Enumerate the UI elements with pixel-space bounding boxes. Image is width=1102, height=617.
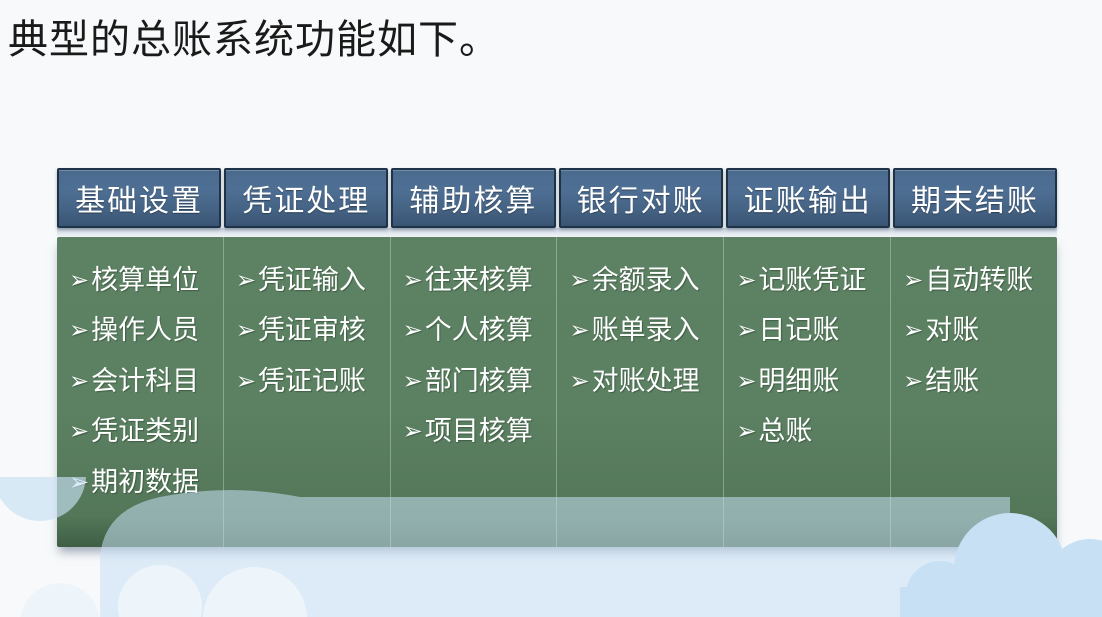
arrow-bullet-icon: ➢: [403, 309, 423, 354]
table-body-column: ➢凭证输入➢凭证审核➢凭证记账: [224, 237, 391, 547]
list-item[interactable]: ➢凭证类别: [69, 406, 213, 456]
arrow-bullet-icon: ➢: [569, 360, 589, 405]
arrow-bullet-icon: ➢: [69, 360, 89, 405]
list-item[interactable]: ➢凭证记账: [236, 356, 380, 406]
header-body-divider: [57, 228, 1057, 237]
list-item[interactable]: ➢项目核算: [403, 406, 547, 456]
arrow-bullet-icon: ➢: [69, 461, 89, 506]
list-item-label: 账单录入: [592, 305, 700, 355]
list-item-label: 期初数据: [91, 457, 199, 507]
list-item-label: 总账: [758, 406, 812, 456]
table-header-cell[interactable]: 辅助核算: [391, 168, 555, 228]
arrow-bullet-icon: ➢: [236, 259, 256, 304]
arrow-bullet-icon: ➢: [569, 309, 589, 354]
list-item-label: 往来核算: [425, 255, 533, 305]
list-item[interactable]: ➢余额录入: [569, 255, 713, 305]
table-body-column: ➢记账凭证➢日记账➢明细账➢总账: [724, 237, 891, 547]
list-item-label: 核算单位: [91, 255, 199, 305]
arrow-bullet-icon: ➢: [69, 259, 89, 304]
list-item[interactable]: ➢总账: [736, 406, 880, 456]
arrow-bullet-icon: ➢: [69, 410, 89, 455]
table-body-column: ➢核算单位➢操作人员➢会计科目➢凭证类别➢期初数据: [57, 237, 224, 547]
list-item[interactable]: ➢操作人员: [69, 305, 213, 355]
table-body-row: ➢核算单位➢操作人员➢会计科目➢凭证类别➢期初数据➢凭证输入➢凭证审核➢凭证记账…: [57, 237, 1057, 547]
page-title: 典型的总账系统功能如下。: [8, 16, 500, 64]
arrow-bullet-icon: ➢: [736, 309, 756, 354]
table-header-cell[interactable]: 基础设置: [57, 168, 221, 228]
arrow-bullet-icon: ➢: [903, 360, 923, 405]
list-item[interactable]: ➢凭证审核: [236, 305, 380, 355]
list-item[interactable]: ➢部门核算: [403, 356, 547, 406]
arrow-bullet-icon: ➢: [236, 309, 256, 354]
table-header-cell[interactable]: 银行对账: [559, 168, 723, 228]
arrow-bullet-icon: ➢: [736, 259, 756, 304]
list-item-label: 凭证输入: [258, 255, 366, 305]
list-item[interactable]: ➢对账处理: [569, 356, 713, 406]
list-item[interactable]: ➢日记账: [736, 305, 880, 355]
list-item-label: 部门核算: [425, 356, 533, 406]
list-item[interactable]: ➢往来核算: [403, 255, 547, 305]
list-item[interactable]: ➢自动转账: [903, 255, 1047, 305]
list-item-label: 记账凭证: [758, 255, 866, 305]
arrow-bullet-icon: ➢: [236, 360, 256, 405]
table-body-column: ➢往来核算➢个人核算➢部门核算➢项目核算: [391, 237, 558, 547]
arrow-bullet-icon: ➢: [903, 259, 923, 304]
arrow-bullet-icon: ➢: [736, 410, 756, 455]
arrow-bullet-icon: ➢: [403, 410, 423, 455]
table-header-row: 基础设置凭证处理辅助核算银行对账证账输出期末结账: [57, 168, 1057, 228]
list-item-label: 凭证审核: [258, 305, 366, 355]
list-item[interactable]: ➢期初数据: [69, 457, 213, 507]
list-item-label: 自动转账: [925, 255, 1033, 305]
list-item-label: 凭证记账: [258, 356, 366, 406]
list-item[interactable]: ➢凭证输入: [236, 255, 380, 305]
table-body-column: ➢自动转账➢对账➢结账: [891, 237, 1057, 547]
list-item[interactable]: ➢结账: [903, 356, 1047, 406]
table-header-cell[interactable]: 期末结账: [893, 168, 1057, 228]
list-item-label: 对账: [925, 305, 979, 355]
list-item-label: 余额录入: [592, 255, 700, 305]
list-item[interactable]: ➢对账: [903, 305, 1047, 355]
list-item-label: 对账处理: [592, 356, 700, 406]
list-item-label: 会计科目: [91, 356, 199, 406]
list-item-label: 凭证类别: [91, 406, 199, 456]
arrow-bullet-icon: ➢: [69, 309, 89, 354]
slide-canvas: 典型的总账系统功能如下。 基础设置凭证处理辅助核算银行对账证账输出期末结账 ➢核…: [0, 0, 1102, 617]
list-item-label: 个人核算: [425, 305, 533, 355]
table-header-cell[interactable]: 证账输出: [726, 168, 890, 228]
list-item[interactable]: ➢账单录入: [569, 305, 713, 355]
table-header-cell[interactable]: 凭证处理: [224, 168, 388, 228]
arrow-bullet-icon: ➢: [403, 360, 423, 405]
arrow-bullet-icon: ➢: [569, 259, 589, 304]
list-item[interactable]: ➢会计科目: [69, 356, 213, 406]
list-item-label: 操作人员: [91, 305, 199, 355]
table-body-column: ➢余额录入➢账单录入➢对账处理: [557, 237, 724, 547]
list-item[interactable]: ➢核算单位: [69, 255, 213, 305]
cloud-front-layer: [0, 565, 1102, 617]
list-item-label: 日记账: [758, 305, 839, 355]
list-item-label: 明细账: [758, 356, 839, 406]
list-item[interactable]: ➢明细账: [736, 356, 880, 406]
list-item[interactable]: ➢记账凭证: [736, 255, 880, 305]
arrow-bullet-icon: ➢: [403, 259, 423, 304]
list-item-label: 项目核算: [425, 406, 533, 456]
general-ledger-function-table: 基础设置凭证处理辅助核算银行对账证账输出期末结账 ➢核算单位➢操作人员➢会计科目…: [57, 168, 1057, 547]
arrow-bullet-icon: ➢: [903, 309, 923, 354]
list-item-label: 结账: [925, 356, 979, 406]
list-item[interactable]: ➢个人核算: [403, 305, 547, 355]
arrow-bullet-icon: ➢: [736, 360, 756, 405]
